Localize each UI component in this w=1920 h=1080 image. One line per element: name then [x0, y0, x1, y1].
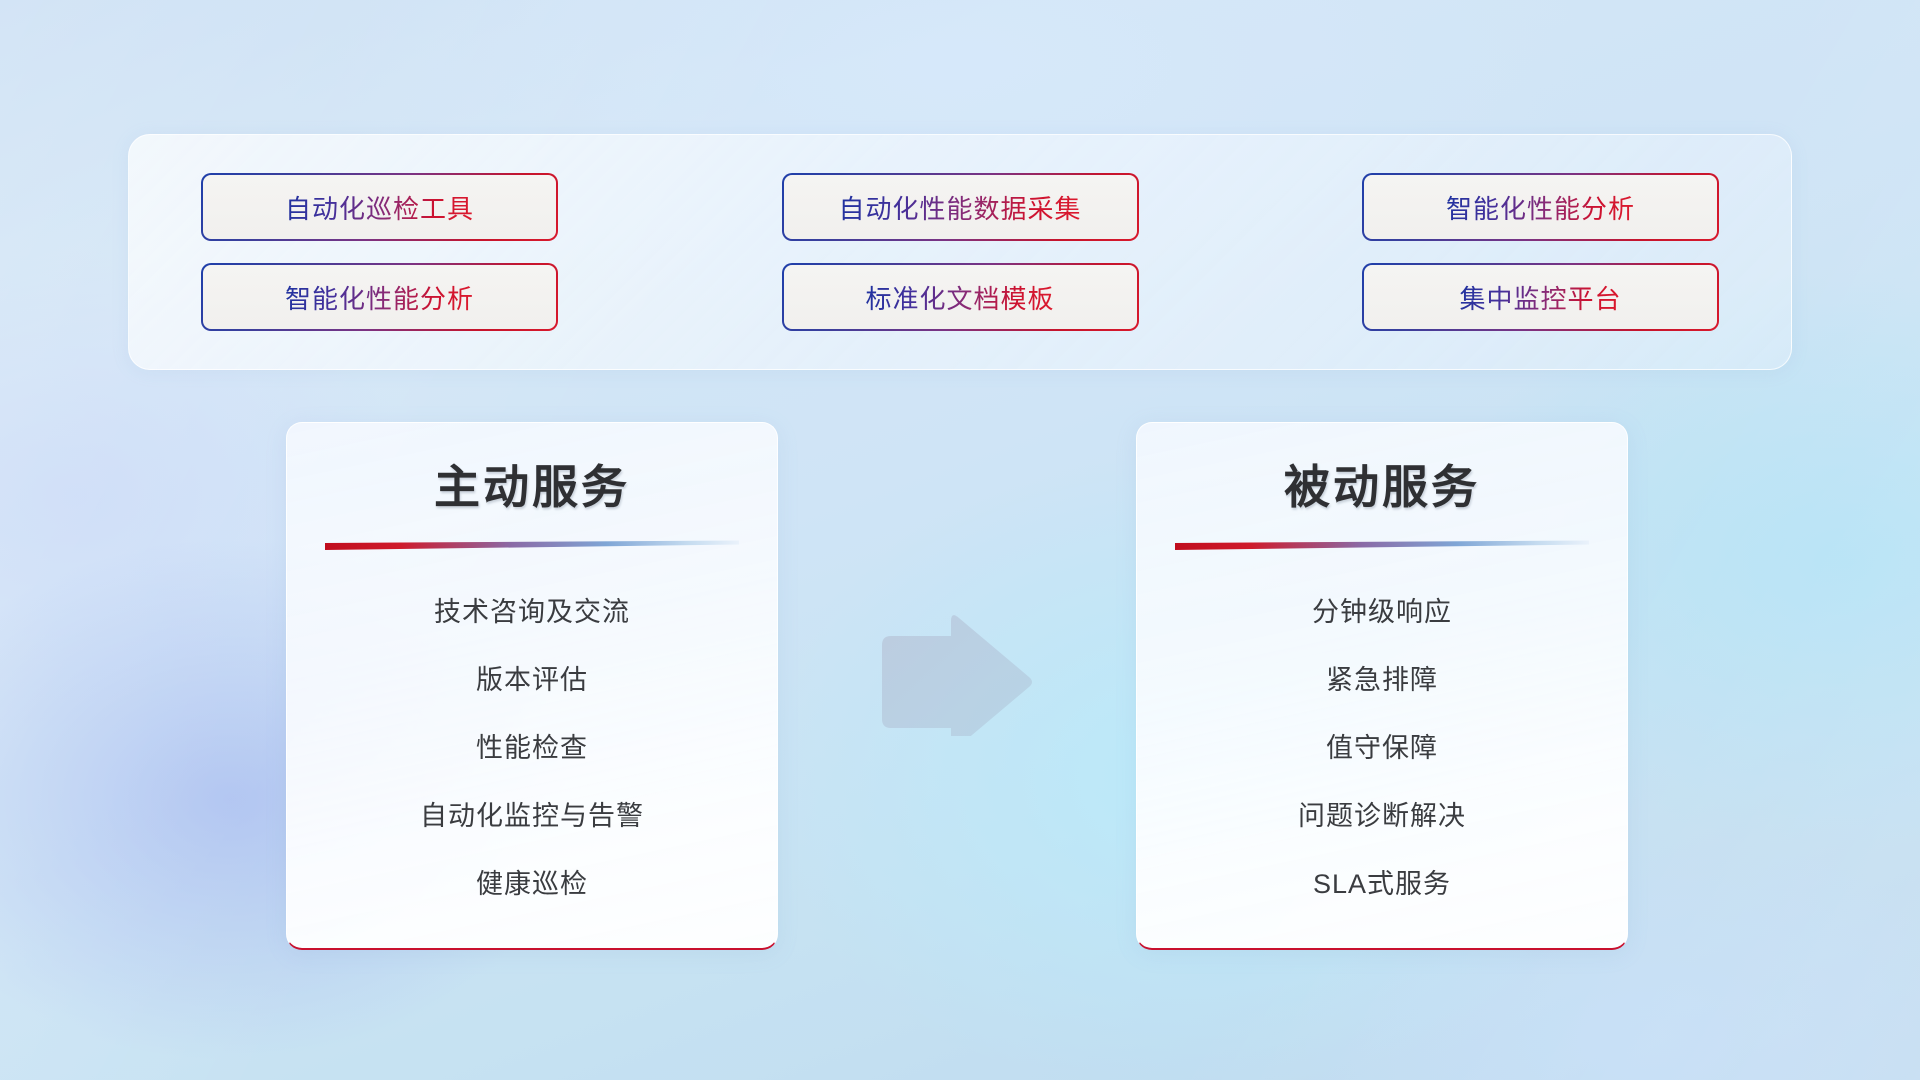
capability-pill-automation-performance-data-collection[interactable]: 自动化性能数据采集	[782, 173, 1139, 241]
capability-pill-label: 自动化巡检工具	[285, 189, 474, 226]
capability-pill-label: 标准化文档模板	[865, 279, 1054, 316]
arrow-right-icon	[874, 612, 1034, 736]
service-list-item: 技术咨询及交流	[325, 596, 739, 628]
capability-pill-label: 智能化性能分析	[285, 279, 474, 316]
service-list-item: 分钟级响应	[1175, 596, 1589, 628]
service-list-item: SLA式服务	[1175, 868, 1589, 900]
title-divider	[1175, 540, 1589, 552]
service-list-item: 问题诊断解决	[1175, 800, 1589, 832]
service-card-title: 被动服务	[1175, 461, 1589, 514]
capability-pill-label: 智能化性能分析	[1446, 189, 1635, 226]
capability-row-2: 智能化性能分析 标准化文档模板 集中监控平台	[201, 263, 1719, 331]
service-card-passive: 被动服务 分钟级响应 紧急排障 值守保障	[1136, 422, 1628, 950]
service-item-list: 技术咨询及交流 版本评估 性能检查 自动化监控与告警 健康巡检	[325, 578, 739, 918]
capability-pill-centralized-monitoring-platform[interactable]: 集中监控平台	[1362, 263, 1719, 331]
service-list-item: 值守保障	[1175, 732, 1589, 764]
service-list-item: 健康巡检	[325, 868, 739, 900]
service-card-title: 主动服务	[325, 461, 739, 514]
capability-pill-intelligent-performance-analysis-2[interactable]: 智能化性能分析	[201, 263, 558, 331]
service-list-item: 紧急排障	[1175, 664, 1589, 696]
capability-pill-automation-inspection-tool[interactable]: 自动化巡检工具	[201, 173, 558, 241]
capability-row-1: 自动化巡检工具 自动化性能数据采集 智能化性能分析	[201, 173, 1719, 241]
service-list-item: 版本评估	[325, 664, 739, 696]
service-card-active: 主动服务 技术咨询及交流 版本评估 性能检查	[286, 422, 778, 950]
capability-pill-label: 自动化性能数据采集	[838, 189, 1081, 226]
title-divider	[325, 540, 739, 552]
service-item-list: 分钟级响应 紧急排障 值守保障 问题诊断解决 SLA式服务	[1175, 578, 1589, 918]
slide-stage: 自动化巡检工具 自动化性能数据采集 智能化性能分析 智能化性能分析 标准化文档模…	[0, 0, 1920, 1080]
service-list-item: 自动化监控与告警	[325, 800, 739, 832]
capability-pill-label: 集中监控平台	[1459, 279, 1621, 316]
service-list-item: 性能检查	[325, 732, 739, 764]
capability-pill-intelligent-performance-analysis-1[interactable]: 智能化性能分析	[1362, 173, 1719, 241]
capability-panel: 自动化巡检工具 自动化性能数据采集 智能化性能分析 智能化性能分析 标准化文档模…	[128, 134, 1792, 370]
capability-pill-standardized-document-template[interactable]: 标准化文档模板	[782, 263, 1139, 331]
